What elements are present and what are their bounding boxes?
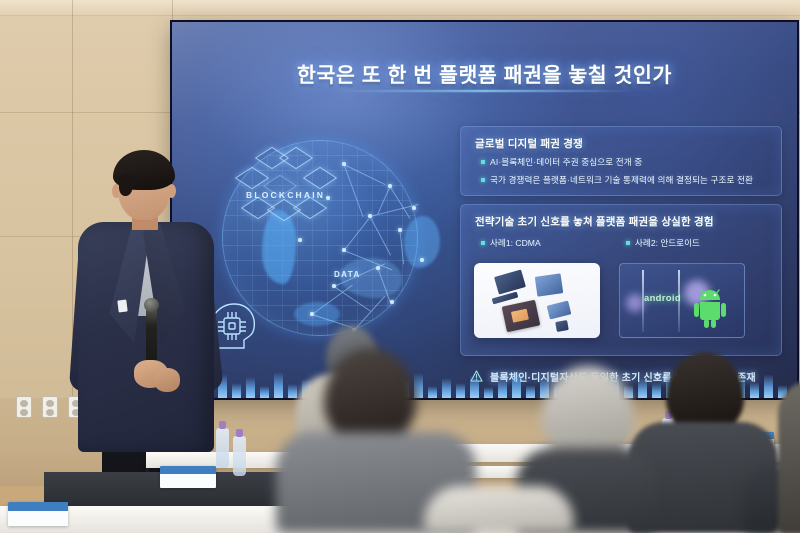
case-2-image-android: android	[619, 263, 745, 338]
case-1-label: 사례1: CDMA	[490, 237, 541, 249]
presenter-badge	[117, 299, 127, 312]
android-robot-icon	[692, 288, 728, 328]
case-2-label: 사례2: 안드로이드	[635, 237, 700, 249]
wall-outlet	[42, 396, 58, 418]
bullet-marker-icon	[626, 241, 630, 245]
blockchain-label: BLOCKCHAIN	[246, 190, 325, 200]
section-1-heading: 글로벌 디지털 패권 경쟁	[475, 136, 583, 151]
section-1-bullet-1: AI·블록체인·데이터 주권 중심으로 전개 중	[490, 156, 642, 168]
water-bottle	[233, 436, 246, 476]
section-global-competition: 글로벌 디지털 패권 경쟁 AI·블록체인·데이터 주권 중심으로 전개 중 국…	[460, 126, 782, 196]
case-1-image-cdma-chips	[474, 263, 600, 338]
presentation-photo-scene: 한국은 또 한 번 플랫폼 패권을 놓칠 것인가	[0, 0, 800, 533]
section-1-bullet-2: 국가 경쟁력은 플랫폼·네트워크 기술 통제력에 의해 결정되는 구조로 전환	[490, 174, 753, 186]
section-2-heading: 전략기술 초기 신호를 놓쳐 플랫폼 패권을 상실한 경험	[475, 214, 714, 229]
name-placard	[8, 502, 68, 526]
name-placard	[160, 466, 216, 488]
presenter-hand-second	[154, 368, 180, 392]
bullet-marker-icon	[481, 241, 485, 245]
bullet-marker-icon	[481, 160, 485, 164]
data-label: DATA	[334, 270, 361, 279]
audience-member	[778, 380, 800, 533]
audience-member	[424, 486, 574, 533]
ceiling-band	[0, 0, 800, 16]
presenter-hair	[113, 150, 175, 190]
title-underline	[335, 90, 635, 92]
android-wordmark: android	[644, 293, 681, 304]
water-bottle	[216, 428, 229, 468]
wall-outlet	[16, 396, 32, 418]
presentation-display: 한국은 또 한 번 플랫폼 패권을 놓칠 것인가	[172, 22, 797, 398]
bullet-marker-icon	[481, 178, 485, 182]
slide-title: 한국은 또 한 번 플랫폼 패권을 놓칠 것인가	[172, 58, 797, 88]
